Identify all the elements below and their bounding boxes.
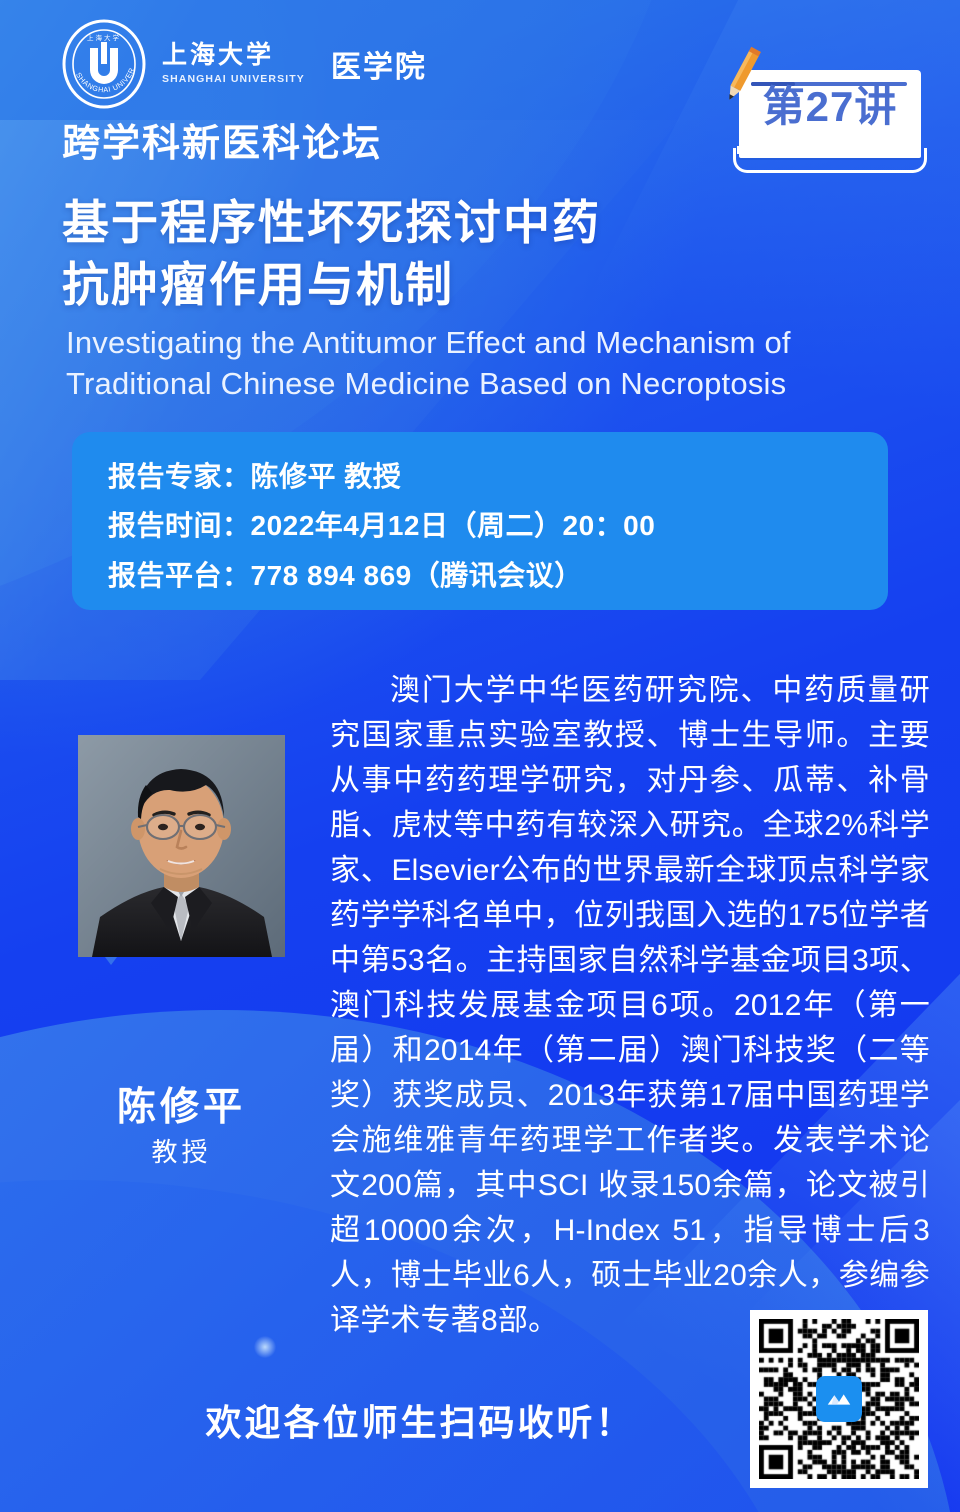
call-to-action-text: 欢迎各位师生扫码收听！ xyxy=(0,1394,840,1446)
badge-label: 第27讲 xyxy=(739,86,921,128)
poster-root: SHANGHAI UNIVERSITY 上海大学 上海大学 SHANGHAI U… xyxy=(0,0,960,1512)
svg-text:SHANGHAI UNIVERSITY: SHANGHAI UNIVERSITY xyxy=(60,18,136,94)
info-time-row: 报告时间：2022年4月12日（周二）20：00 xyxy=(108,503,888,548)
brand-header: SHANGHAI UNIVERSITY 上海大学 上海大学 SHANGHAI U… xyxy=(60,18,427,110)
main-title-line1: 基于程序性坏死探讨中药 xyxy=(62,192,601,254)
info-platform-row: 报告平台：778 894 869（腾讯会议） xyxy=(108,553,888,598)
pencil-icon xyxy=(719,46,765,108)
main-title-line2: 抗肿瘤作用与机制 xyxy=(62,254,601,316)
svg-text:上海大学: 上海大学 xyxy=(87,33,121,42)
info-speaker-row: 报告专家：陈修平 教授 xyxy=(108,454,888,499)
subtitle-en: Investigating the Antitumor Effect and M… xyxy=(66,323,791,405)
lecture-number-badge: 第27讲 xyxy=(727,60,922,170)
speaker-role: 教授 xyxy=(78,1132,285,1169)
subtitle-line2: Traditional Chinese Medicine Based on Ne… xyxy=(66,364,791,405)
university-name-en: SHANGHAI UNIVERSITY xyxy=(162,73,305,85)
qr-code[interactable] xyxy=(750,1310,928,1488)
badge-fold-shape xyxy=(733,148,927,173)
speaker-name: 陈修平 xyxy=(78,1076,285,1132)
subtitle-line1: Investigating the Antitumor Effect and M… xyxy=(66,323,791,364)
speaker-biography: 澳门大学中华医药研究院、中药质量研究国家重点实验室教授、博士生导师。主要从事中药… xyxy=(330,668,930,1343)
speaker-photo xyxy=(78,735,285,957)
college-name: 医学院 xyxy=(331,42,427,86)
tencent-meeting-logo-icon xyxy=(816,1376,862,1422)
background-light-dot xyxy=(254,1336,276,1358)
lecture-info-box: 报告专家：陈修平 教授 报告时间：2022年4月12日（周二）20：00 报告平… xyxy=(72,432,888,610)
speaker-portrait-illustration xyxy=(78,735,285,957)
shanghai-university-seal-icon: SHANGHAI UNIVERSITY 上海大学 xyxy=(60,18,148,110)
main-title: 基于程序性坏死探讨中药 抗肿瘤作用与机制 xyxy=(62,192,601,316)
university-name-cn: 上海大学 xyxy=(162,43,305,69)
forum-title: 跨学科新医科论坛 xyxy=(62,112,382,167)
